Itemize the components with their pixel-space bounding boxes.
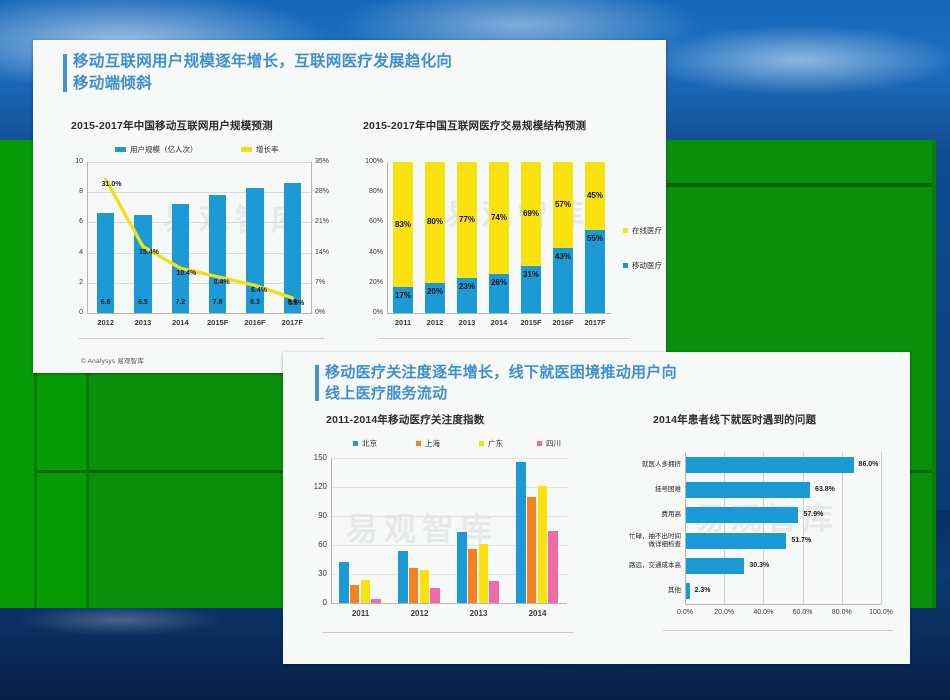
- bar: [489, 581, 499, 603]
- stack-value-online: 57%: [553, 200, 573, 209]
- chart-underline: [663, 630, 893, 631]
- chart-underline: [323, 632, 573, 633]
- gridline: [331, 487, 567, 488]
- legend-label: 广东: [488, 438, 503, 449]
- x-tick-label: 2015F: [515, 318, 547, 327]
- bar: [516, 462, 526, 603]
- x-tick-label: 2012: [390, 609, 449, 618]
- gridline: [842, 452, 843, 604]
- bar: [398, 551, 408, 603]
- y-axis-line: [387, 162, 388, 313]
- category-label: 就医人多拥挤: [607, 461, 681, 469]
- x-axis-line: [331, 603, 567, 604]
- bar: [548, 531, 558, 604]
- y-tick-label: 30: [299, 569, 327, 578]
- stack-value-online: 74%: [489, 213, 509, 222]
- legend-item-online-medical[interactable]: 在线医疗: [623, 225, 662, 236]
- line-value-label: 6.4%: [251, 287, 291, 294]
- growth-rate-line: [43, 140, 348, 340]
- copyright-footer: © Analysys 易观智库: [81, 355, 144, 365]
- x-tick-label: 2011: [387, 318, 419, 327]
- chart-title-offline-medical-problems: 2014年患者线下就医时遇到的问题: [653, 412, 816, 427]
- y-axis-line: [331, 458, 332, 603]
- bar-value-label: 51.7%: [791, 537, 811, 544]
- y-tick-label: 60: [299, 540, 327, 549]
- x-axis-line: [87, 313, 312, 314]
- bar-value-label: 57.9%: [803, 511, 823, 518]
- x-tick-label: 2013: [124, 318, 161, 327]
- slide-card-top[interactable]: 移动互联网用户规模逐年增长，互联网医疗发展趋化向 移动端倾斜 2015-2017…: [33, 40, 666, 373]
- x-tick-label: 2012: [87, 318, 124, 327]
- title-accent-bar: [63, 54, 67, 92]
- line-value-label: 10.4%: [176, 270, 216, 277]
- category-label: 忙碌，抽不出时间 做详细检查: [607, 533, 681, 549]
- chart-underline: [79, 338, 324, 339]
- legend-item-0[interactable]: 北京: [353, 438, 377, 449]
- y-axis-line: [87, 162, 88, 313]
- y-tick-label: 40%: [355, 249, 383, 256]
- bar: [350, 585, 360, 603]
- legend-swatch: [479, 441, 484, 446]
- x-tick-label: 2015F: [199, 318, 236, 327]
- x-tick-label: 0.0%: [663, 609, 707, 616]
- x-tick-label: 60.0%: [781, 609, 825, 616]
- x-tick-label: 2011: [331, 609, 390, 618]
- y-tick-label: 0%: [355, 309, 383, 316]
- watermark: 易观智库: [346, 504, 498, 550]
- x-tick-label: 2014: [508, 609, 567, 618]
- bar: [685, 533, 786, 549]
- chart-mobile-internet-users[interactable]: 易观智库 用户规模（亿人次） 增长率 0246810 0%7%14%21%28%…: [43, 140, 348, 340]
- x-tick-label: 2013: [449, 609, 508, 618]
- legend-swatch-online: [623, 228, 628, 233]
- stack-value-online: 83%: [393, 220, 413, 229]
- slide-top-title: 移动互联网用户规模逐年增长，互联网医疗发展趋化向 移动端倾斜: [73, 51, 648, 95]
- category-label: 挂号困难: [607, 486, 681, 494]
- legend-label: 北京: [362, 438, 377, 449]
- y-tick-label: 20%: [355, 279, 383, 286]
- stack-value-online: 45%: [585, 191, 605, 200]
- stack-value-mobile: 20%: [425, 287, 445, 296]
- stack-value-mobile: 26%: [489, 278, 509, 287]
- chart-title-mobile-internet-users: 2015-2017年中国移动互联网用户规模预测: [71, 118, 273, 133]
- x-tick-label: 2017F: [579, 318, 611, 327]
- x-tick-label: 80.0%: [820, 609, 864, 616]
- x-tick-label: 2014: [483, 318, 515, 327]
- stack-value-online: 80%: [425, 217, 445, 226]
- bar: [409, 568, 419, 603]
- bar: [538, 486, 548, 603]
- x-axis-line: [685, 604, 881, 605]
- bar: [420, 570, 430, 603]
- x-tick-label: 2013: [451, 318, 483, 327]
- legend-swatch: [537, 441, 542, 446]
- y-tick-label: 0: [299, 598, 327, 607]
- stack-value-mobile: 17%: [393, 291, 413, 300]
- x-tick-label: 2012: [419, 318, 451, 327]
- stack-value-mobile: 31%: [521, 270, 541, 279]
- chart-title-internet-medical-structure: 2015-2017年中国互联网医疗交易规模结构预测: [363, 118, 586, 133]
- x-tick-label: 100.0%: [859, 609, 903, 616]
- legend-swatch: [416, 441, 421, 446]
- chart-mobile-medical-attention-index[interactable]: 易观智库 北京上海广东四川 0306090120150 201120122013…: [291, 434, 591, 639]
- chart-offline-medical-problems[interactable]: 易观智库 就医人多拥挤挂号困难费用高忙碌，抽不出时间 做详细检查路远，交通成本高…: [595, 434, 903, 639]
- legend-swatch: [353, 441, 358, 446]
- bar: [339, 562, 349, 603]
- title-accent-bar: [315, 365, 319, 401]
- chart-underline: [379, 338, 629, 339]
- x-tick-label: 2016F: [236, 318, 273, 327]
- category-label: 路远，交通成本高: [607, 562, 681, 570]
- category-label: 其他: [607, 587, 681, 595]
- bar-value-label: 86.0%: [859, 461, 879, 468]
- gridline: [763, 452, 764, 604]
- y-tick-label: 90: [299, 511, 327, 520]
- green-edge-right: [932, 140, 936, 608]
- legend-label-online-medical: 在线医疗: [632, 225, 662, 236]
- legend-label: 四川: [546, 438, 561, 449]
- bar-value-label: 2.3%: [695, 587, 711, 594]
- line-value-label: 31.0%: [102, 181, 142, 188]
- line-value-label: 3.5%: [288, 300, 328, 307]
- y2-axis-line: [311, 162, 312, 313]
- bar: [430, 588, 440, 603]
- legend-item-mobile-medical[interactable]: 移动医疗: [623, 260, 662, 271]
- y-tick-label: 120: [299, 482, 327, 491]
- bar: [685, 558, 744, 574]
- stack-value-online: 77%: [457, 215, 477, 224]
- line-value-label: 15.4%: [139, 249, 179, 256]
- y-tick-label: 150: [299, 453, 327, 462]
- bar: [527, 497, 537, 603]
- y-tick-label: 100%: [355, 158, 383, 165]
- bar-value-label: 63.8%: [815, 486, 835, 493]
- x-tick-label: 2016F: [547, 318, 579, 327]
- x-tick-label: 20.0%: [702, 609, 746, 616]
- x-tick-label: 2014: [162, 318, 199, 327]
- stack-value-online: 69%: [521, 209, 541, 218]
- bar: [685, 482, 810, 498]
- gridline: [724, 452, 725, 604]
- bar: [685, 457, 854, 473]
- gridline: [881, 452, 882, 604]
- bar: [361, 580, 371, 603]
- y-tick-label: 80%: [355, 188, 383, 195]
- bar: [457, 532, 467, 603]
- legend-label: 上海: [425, 438, 440, 449]
- y-axis-line: [685, 452, 686, 604]
- legend-item-3[interactable]: 四川: [537, 438, 561, 449]
- green-accent-line: [660, 183, 936, 187]
- bar: [685, 507, 798, 523]
- x-tick-label: 2017F: [274, 318, 311, 327]
- bar-value-label: 30.3%: [749, 562, 769, 569]
- slide-bottom-title: 移动医疗关注度逐年增长，线下就医困境推动用户向 线上医疗服务流动: [325, 362, 892, 404]
- y-tick-label: 60%: [355, 218, 383, 225]
- stack-value-mobile: 55%: [585, 234, 605, 243]
- stack-value-mobile: 43%: [553, 252, 573, 261]
- gridline: [803, 452, 804, 604]
- x-tick-label: 40.0%: [741, 609, 785, 616]
- slide-card-bottom[interactable]: 移动医疗关注度逐年增长，线下就医困境推动用户向 线上医疗服务流动 2011-20…: [283, 352, 910, 664]
- bar: [479, 544, 489, 603]
- line-value-label: 8.4%: [214, 279, 254, 286]
- chart-internet-medical-structure[interactable]: 易观智库 0%20%40%60%80%100% 17%83%20%80%23%7…: [351, 140, 656, 340]
- bar: [468, 549, 478, 603]
- legend-label-mobile-medical: 移动医疗: [632, 260, 662, 271]
- legend-item-2[interactable]: 广东: [479, 438, 503, 449]
- chart-title-mobile-medical-attention: 2011-2014年移动医疗关注度指数: [326, 412, 484, 427]
- x-axis-line: [387, 313, 611, 314]
- stack-value-mobile: 23%: [457, 282, 477, 291]
- legend-swatch-mobile: [623, 263, 628, 268]
- category-label: 费用高: [607, 511, 681, 519]
- legend-item-1[interactable]: 上海: [416, 438, 440, 449]
- gridline: [331, 458, 567, 459]
